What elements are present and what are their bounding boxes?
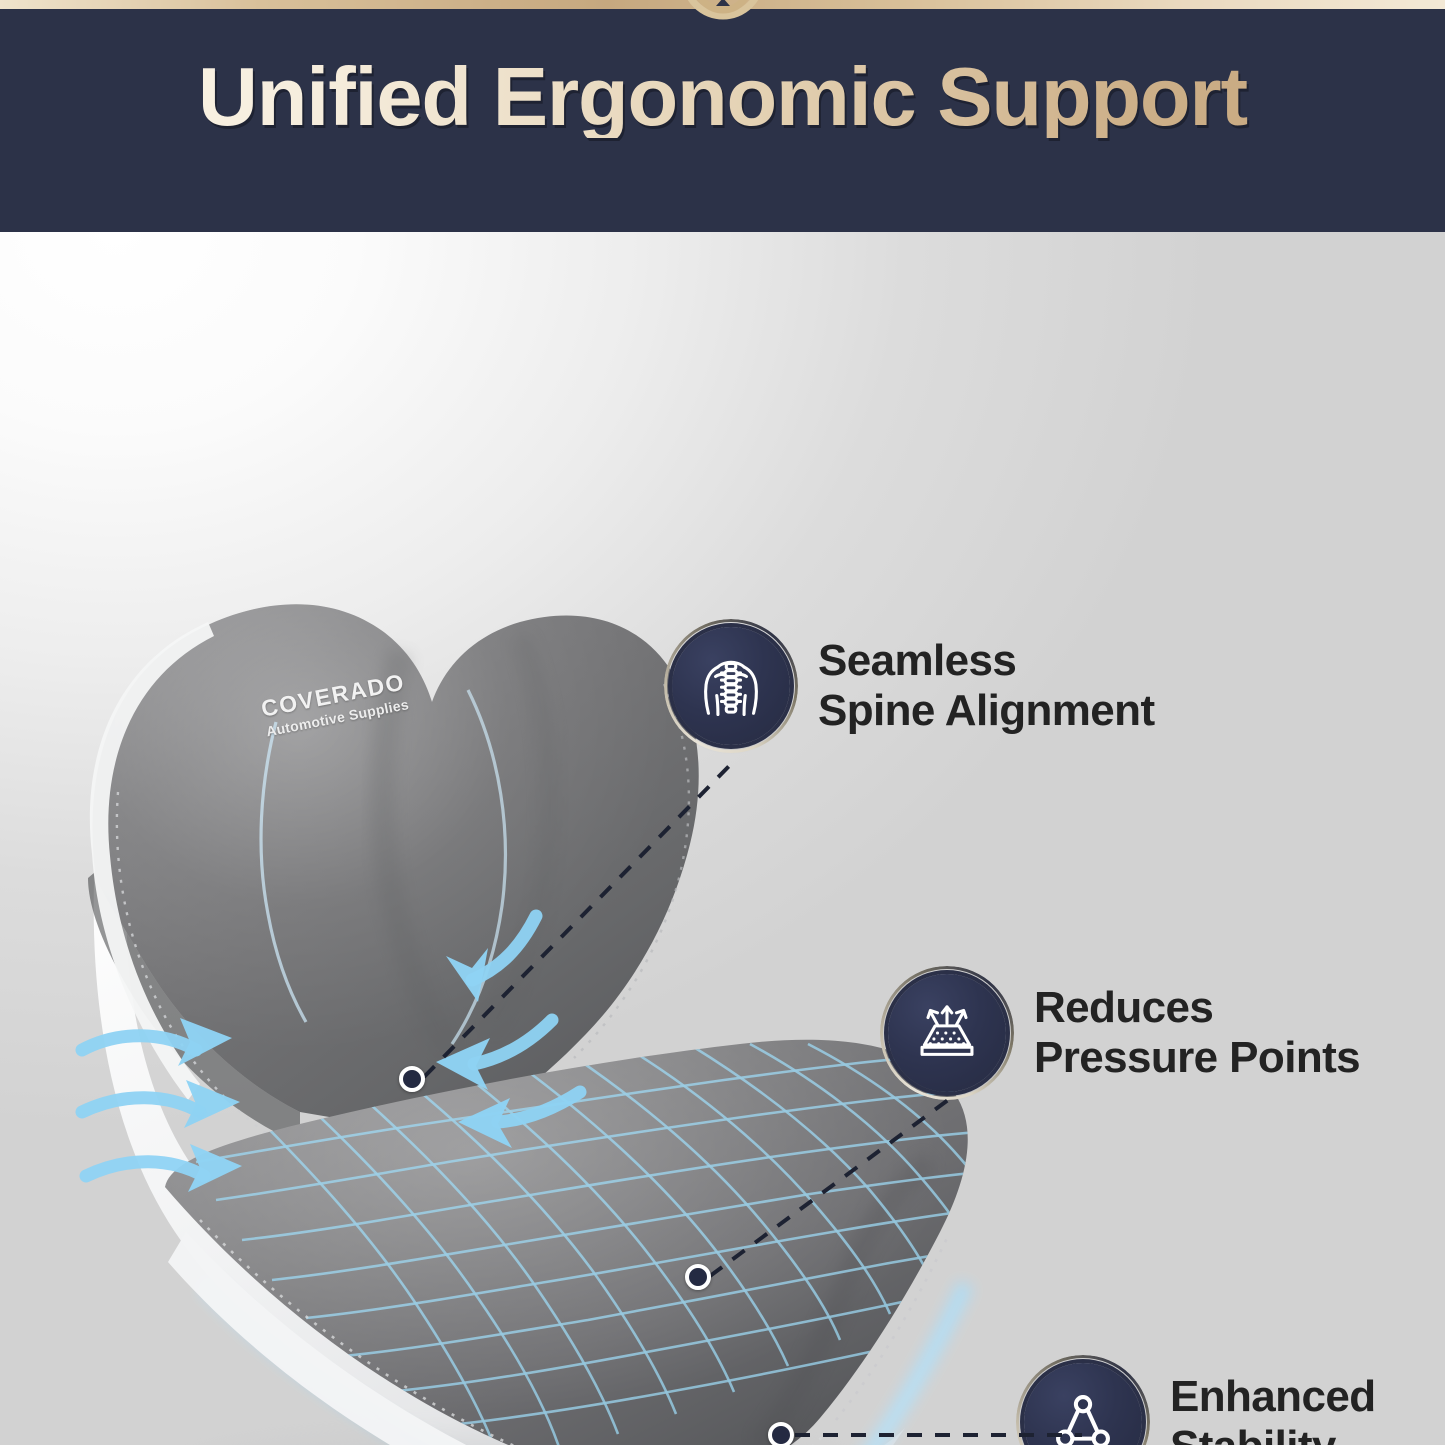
- callout-line1: Seamless: [818, 636, 1016, 685]
- callout-label-stability: Enhanced Stability: [1170, 1372, 1375, 1445]
- stability-triangle-icon: [1024, 1363, 1142, 1445]
- callout-line2: Spine Alignment: [818, 686, 1155, 736]
- infographic-page: Unified Ergonomic Support: [0, 0, 1445, 1445]
- spine-alignment-icon: [672, 627, 790, 745]
- callout-label-pressure: Reduces Pressure Points: [1034, 983, 1360, 1083]
- marker-pressure[interactable]: [685, 1264, 711, 1290]
- callout-reduces-pressure-points[interactable]: Reduces Pressure Points: [888, 974, 1360, 1092]
- scene: COVERADO Automotive Supplies: [0, 232, 1445, 1445]
- marker-stability[interactable]: [768, 1422, 794, 1445]
- marker-spine[interactable]: [399, 1066, 425, 1092]
- pressure-relief-icon: [888, 974, 1006, 1092]
- callout-line2: Pressure Points: [1034, 1033, 1360, 1083]
- callout-enhanced-stability[interactable]: Enhanced Stability: [1024, 1363, 1375, 1445]
- seat-cushion-illustration: [0, 232, 1445, 1445]
- page-title: Unified Ergonomic Support: [0, 55, 1445, 138]
- header-banner: Unified Ergonomic Support: [0, 0, 1445, 232]
- product-stage: COVERADO Automotive Supplies: [0, 232, 1445, 1445]
- callout-seamless-spine-alignment[interactable]: Seamless Spine Alignment: [672, 627, 1155, 745]
- callout-line1: Enhanced: [1170, 1372, 1375, 1421]
- callout-line2: Stability: [1170, 1422, 1375, 1445]
- crest-arc-ornament: [675, 0, 771, 44]
- callout-label-spine: Seamless Spine Alignment: [818, 636, 1155, 736]
- callout-line1: Reduces: [1034, 983, 1213, 1032]
